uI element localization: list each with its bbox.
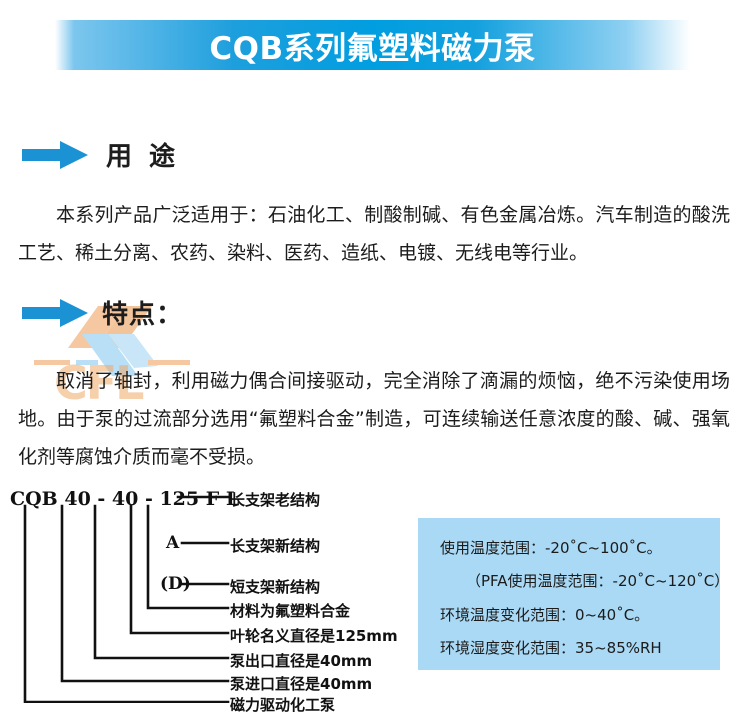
variant-label-l: 长支架老结构 xyxy=(230,489,320,510)
callout-outlet-dia: 泵出口直径是40mm xyxy=(230,650,372,671)
feature-section-title: 特点： xyxy=(102,294,183,331)
callout-material: 材料为氟塑料合金 xyxy=(230,600,350,621)
variant-label-a: 长支架新结构 xyxy=(230,535,320,556)
spec-ambient-temp: 环境温度变化范围：0~40˚C。 xyxy=(440,604,649,625)
blue-right-arrow-icon xyxy=(22,298,88,328)
blue-right-arrow-icon xyxy=(22,140,88,170)
spec-ambient-humidity: 环境湿度变化范围：35~85%RH xyxy=(440,637,662,658)
feature-section-heading: 特点： xyxy=(22,294,183,331)
feature-paragraph: 取消了轴封，利用磁力偶合间接驱动，完全消除了滴漏的烦恼，绝不污染使用场地。由于泵… xyxy=(18,362,730,476)
usage-paragraph: 本系列产品广泛适用于：石油化工、制酸制碱、有色金属冶炼。汽车制造的酸洗工艺、稀土… xyxy=(18,196,730,272)
callout-pump-type: 磁力驱动化工泵 xyxy=(230,694,335,715)
variant-label-d: 短支架新结构 xyxy=(230,576,320,597)
page-title: CQB系列氟塑料磁力泵 xyxy=(209,23,535,68)
model-designation-diagram: CQB 40 - 40 - 125 F L A (D) 长支架老结构 长支架新结… xyxy=(0,488,420,703)
callout-inlet-dia: 泵进口直径是40mm xyxy=(230,673,372,694)
usage-section-heading: 用 途 xyxy=(22,136,179,173)
title-banner: CQB系列氟塑料磁力泵 xyxy=(55,20,690,70)
specification-box: 使用温度范围：-20˚C~100˚C。 （PFA使用温度范围：-20˚C~120… xyxy=(418,518,720,670)
variant-symbol-a: A xyxy=(166,533,179,553)
spec-pfa-operating-temp: （PFA使用温度范围：-20˚C~120˚C） xyxy=(466,570,729,591)
usage-section-title: 用 途 xyxy=(106,136,179,173)
callout-impeller-dia: 叶轮名义直径是125mm xyxy=(230,625,398,646)
variant-symbol-d: (D) xyxy=(160,574,191,594)
spec-operating-temp: 使用温度范围：-20˚C~100˚C。 xyxy=(440,537,662,558)
